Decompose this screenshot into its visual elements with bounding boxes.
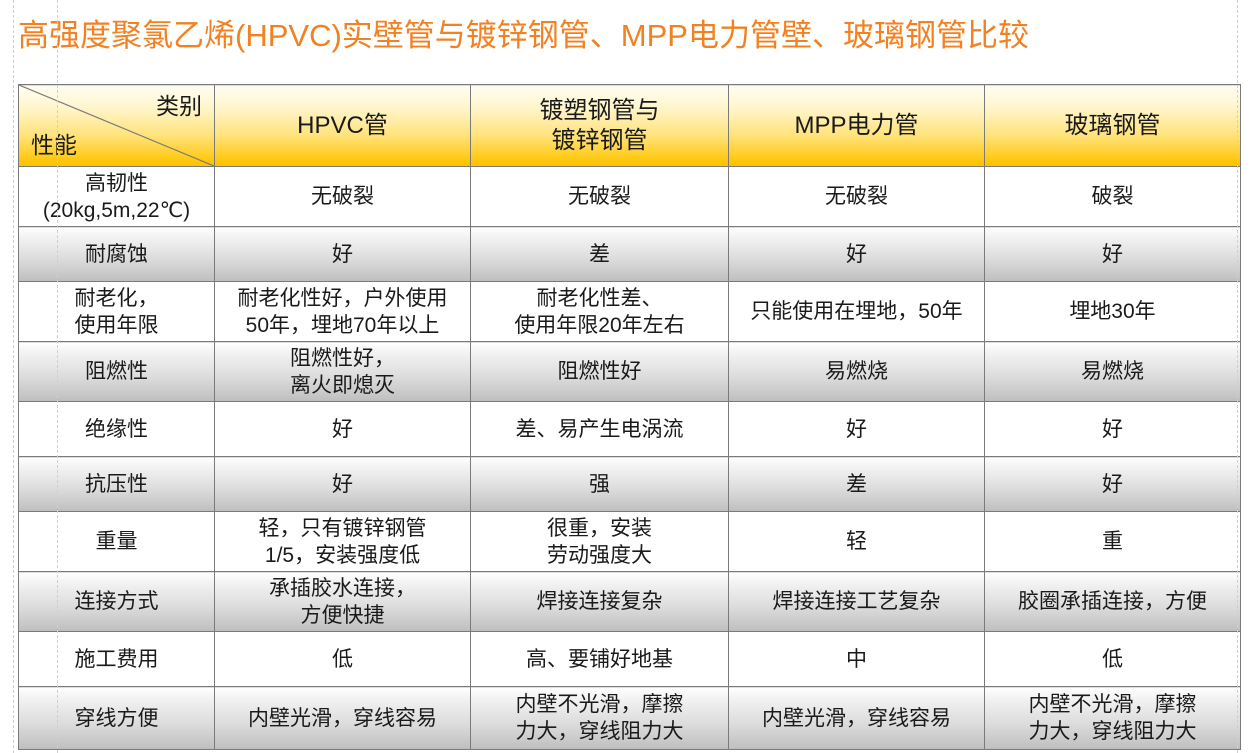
table-row: 阻燃性 阻燃性好，离火即熄灭 阻燃性好 易燃烧 易燃烧 [19,342,1241,402]
corner-category-label: 类别 [156,92,202,120]
cell-frp: 易燃烧 [985,342,1241,402]
comparison-table: 类别 性能 HPVC管 镀塑钢管与 镀锌钢管 MPP电力管 玻璃钢管 高韧性 (… [18,84,1241,750]
cell-galvanized: 无破裂 [471,167,729,227]
row-label-line1: 耐老化， [75,287,159,310]
cell-mpp: 好 [729,402,985,457]
cell-frp: 好 [985,457,1241,512]
row-label-line2: 使用年限 [75,314,159,337]
row-label: 耐老化， 使用年限 [19,282,215,342]
table-row: 重量 轻，只有镀锌钢管1/5，安装强度低 很重，安装劳动强度大 轻 重 [19,512,1241,572]
column-header-galvanized: 镀塑钢管与 镀锌钢管 [471,85,729,167]
cell-galvanized: 高、要铺好地基 [471,632,729,687]
cell-galvanized: 差 [471,227,729,282]
table-corner-cell: 类别 性能 [19,85,215,167]
cell-hpvc: 耐老化性好，户外使用50年，埋地70年以上 [215,282,471,342]
cell-mpp: 轻 [729,512,985,572]
cell-mpp: 好 [729,227,985,282]
column-header-galvanized-line1: 镀塑钢管与 [540,97,660,124]
column-header-hpvc-line1: HPVC管 [297,112,388,139]
cell-hpvc: 内壁光滑，穿线容易 [215,687,471,750]
cell-hpvc: 好 [215,402,471,457]
row-label-line2: (20kg,5m,22℃) [43,199,190,222]
column-header-galvanized-line2: 镀锌钢管 [552,127,648,154]
cell-frp: 好 [985,402,1241,457]
page-title: 高强度聚氯乙烯(HPVC)实壁管与镀锌钢管、MPP电力管壁、玻璃钢管比较 [18,16,1029,56]
table-row: 穿线方便 内壁光滑，穿线容易 内壁不光滑，摩擦力大，穿线阻力大 内壁光滑，穿线容… [19,687,1241,750]
slide-guide-left [13,0,14,753]
row-label: 穿线方便 [19,687,215,750]
table-row: 施工费用 低 高、要铺好地基 中 低 [19,632,1241,687]
row-label: 连接方式 [19,572,215,632]
table-header-row: 类别 性能 HPVC管 镀塑钢管与 镀锌钢管 MPP电力管 玻璃钢管 [19,85,1241,167]
row-label: 抗压性 [19,457,215,512]
cell-frp: 重 [985,512,1241,572]
column-header-mpp: MPP电力管 [729,85,985,167]
column-header-frp-line1: 玻璃钢管 [1065,112,1161,139]
cell-frp: 低 [985,632,1241,687]
slide-title-container: 高强度聚氯乙烯(HPVC)实壁管与镀锌钢管、MPP电力管壁、玻璃钢管比较 [18,8,1233,64]
row-label: 施工费用 [19,632,215,687]
cell-hpvc: 承插胶水连接，方便快捷 [215,572,471,632]
cell-frp: 胶圈承插连接，方便 [985,572,1241,632]
cell-mpp: 中 [729,632,985,687]
table-row: 连接方式 承插胶水连接，方便快捷 焊接连接复杂 焊接连接工艺复杂 胶圈承插连接，… [19,572,1241,632]
cell-galvanized: 强 [471,457,729,512]
cell-mpp: 无破裂 [729,167,985,227]
cell-hpvc: 无破裂 [215,167,471,227]
table-row: 耐老化， 使用年限 耐老化性好，户外使用50年，埋地70年以上 耐老化性差、使用… [19,282,1241,342]
table-row: 高韧性 (20kg,5m,22℃) 无破裂 无破裂 无破裂 破裂 [19,167,1241,227]
cell-frp: 好 [985,227,1241,282]
cell-frp: 内壁不光滑，摩擦力大，穿线阻力大 [985,687,1241,750]
row-label: 高韧性 (20kg,5m,22℃) [19,167,215,227]
row-label: 绝缘性 [19,402,215,457]
cell-galvanized: 很重，安装劳动强度大 [471,512,729,572]
cell-galvanized: 内壁不光滑，摩擦力大，穿线阻力大 [471,687,729,750]
cell-mpp: 易燃烧 [729,342,985,402]
cell-galvanized: 耐老化性差、使用年限20年左右 [471,282,729,342]
row-label: 耐腐蚀 [19,227,215,282]
column-header-frp: 玻璃钢管 [985,85,1241,167]
comparison-table-container: 类别 性能 HPVC管 镀塑钢管与 镀锌钢管 MPP电力管 玻璃钢管 高韧性 (… [18,84,1240,750]
table-body: 高韧性 (20kg,5m,22℃) 无破裂 无破裂 无破裂 破裂 耐腐蚀 好 差… [19,167,1241,750]
row-label-line1: 高韧性 [85,172,148,195]
cell-hpvc: 好 [215,457,471,512]
table-header: 类别 性能 HPVC管 镀塑钢管与 镀锌钢管 MPP电力管 玻璃钢管 [19,85,1241,167]
cell-mpp: 差 [729,457,985,512]
column-header-mpp-line1: MPP电力管 [794,112,918,139]
cell-hpvc: 好 [215,227,471,282]
cell-galvanized: 阻燃性好 [471,342,729,402]
cell-frp: 埋地30年 [985,282,1241,342]
table-row: 耐腐蚀 好 差 好 好 [19,227,1241,282]
row-label: 阻燃性 [19,342,215,402]
cell-hpvc: 低 [215,632,471,687]
cell-hpvc: 轻，只有镀锌钢管1/5，安装强度低 [215,512,471,572]
cell-mpp: 内壁光滑，穿线容易 [729,687,985,750]
table-row: 抗压性 好 强 差 好 [19,457,1241,512]
cell-hpvc: 阻燃性好，离火即熄灭 [215,342,471,402]
cell-frp: 破裂 [985,167,1241,227]
row-label: 重量 [19,512,215,572]
column-header-hpvc: HPVC管 [215,85,471,167]
cell-mpp: 焊接连接工艺复杂 [729,572,985,632]
cell-galvanized: 差、易产生电涡流 [471,402,729,457]
cell-galvanized: 焊接连接复杂 [471,572,729,632]
cell-mpp: 只能使用在埋地，50年 [729,282,985,342]
corner-performance-label: 性能 [31,131,77,159]
table-row: 绝缘性 好 差、易产生电涡流 好 好 [19,402,1241,457]
